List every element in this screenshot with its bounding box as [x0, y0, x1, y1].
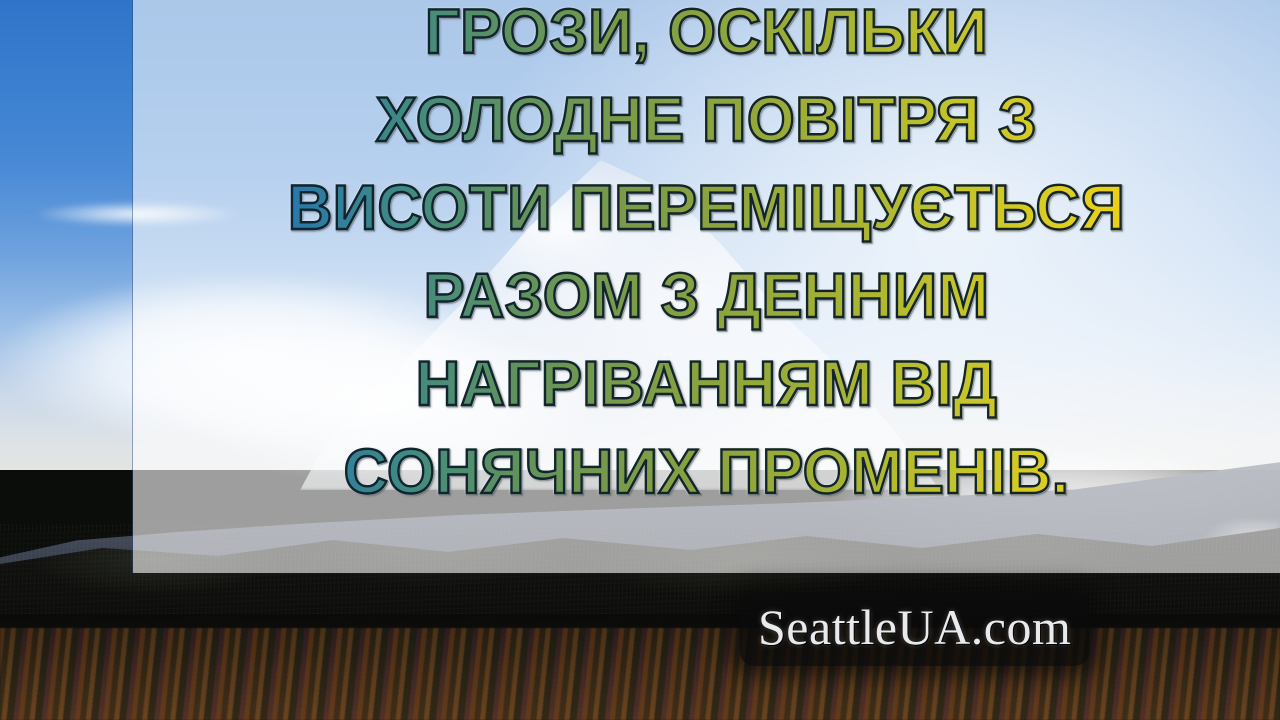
caption-text-block: ГРОЗИ, ОСКІЛЬКИ ХОЛОДНЕ ПОВІТРЯ З ВИСОТИ…: [133, 0, 1280, 573]
caption-line-5: НАГРІВАННЯМ ВІД: [146, 340, 1266, 428]
caption-line-4: РАЗОМ З ДЕННИМ: [146, 252, 1266, 340]
image-canvas: ГРОЗИ, ОСКІЛЬКИ ХОЛОДНЕ ПОВІТРЯ З ВИСОТИ…: [0, 0, 1280, 720]
watermark-badge: SeattleUA.com: [740, 592, 1089, 666]
caption-line-3: ВИСОТИ ПЕРЕМІЩУЄТЬСЯ: [146, 164, 1266, 252]
caption-line-1: ГРОЗИ, ОСКІЛЬКИ: [146, 0, 1266, 76]
caption-line-6: СОНЯЧНИХ ПРОМЕНІВ.: [146, 428, 1266, 516]
watermark-text: SeattleUA.com: [758, 598, 1071, 656]
caption-line-2: ХОЛОДНЕ ПОВІТРЯ З: [146, 76, 1266, 164]
